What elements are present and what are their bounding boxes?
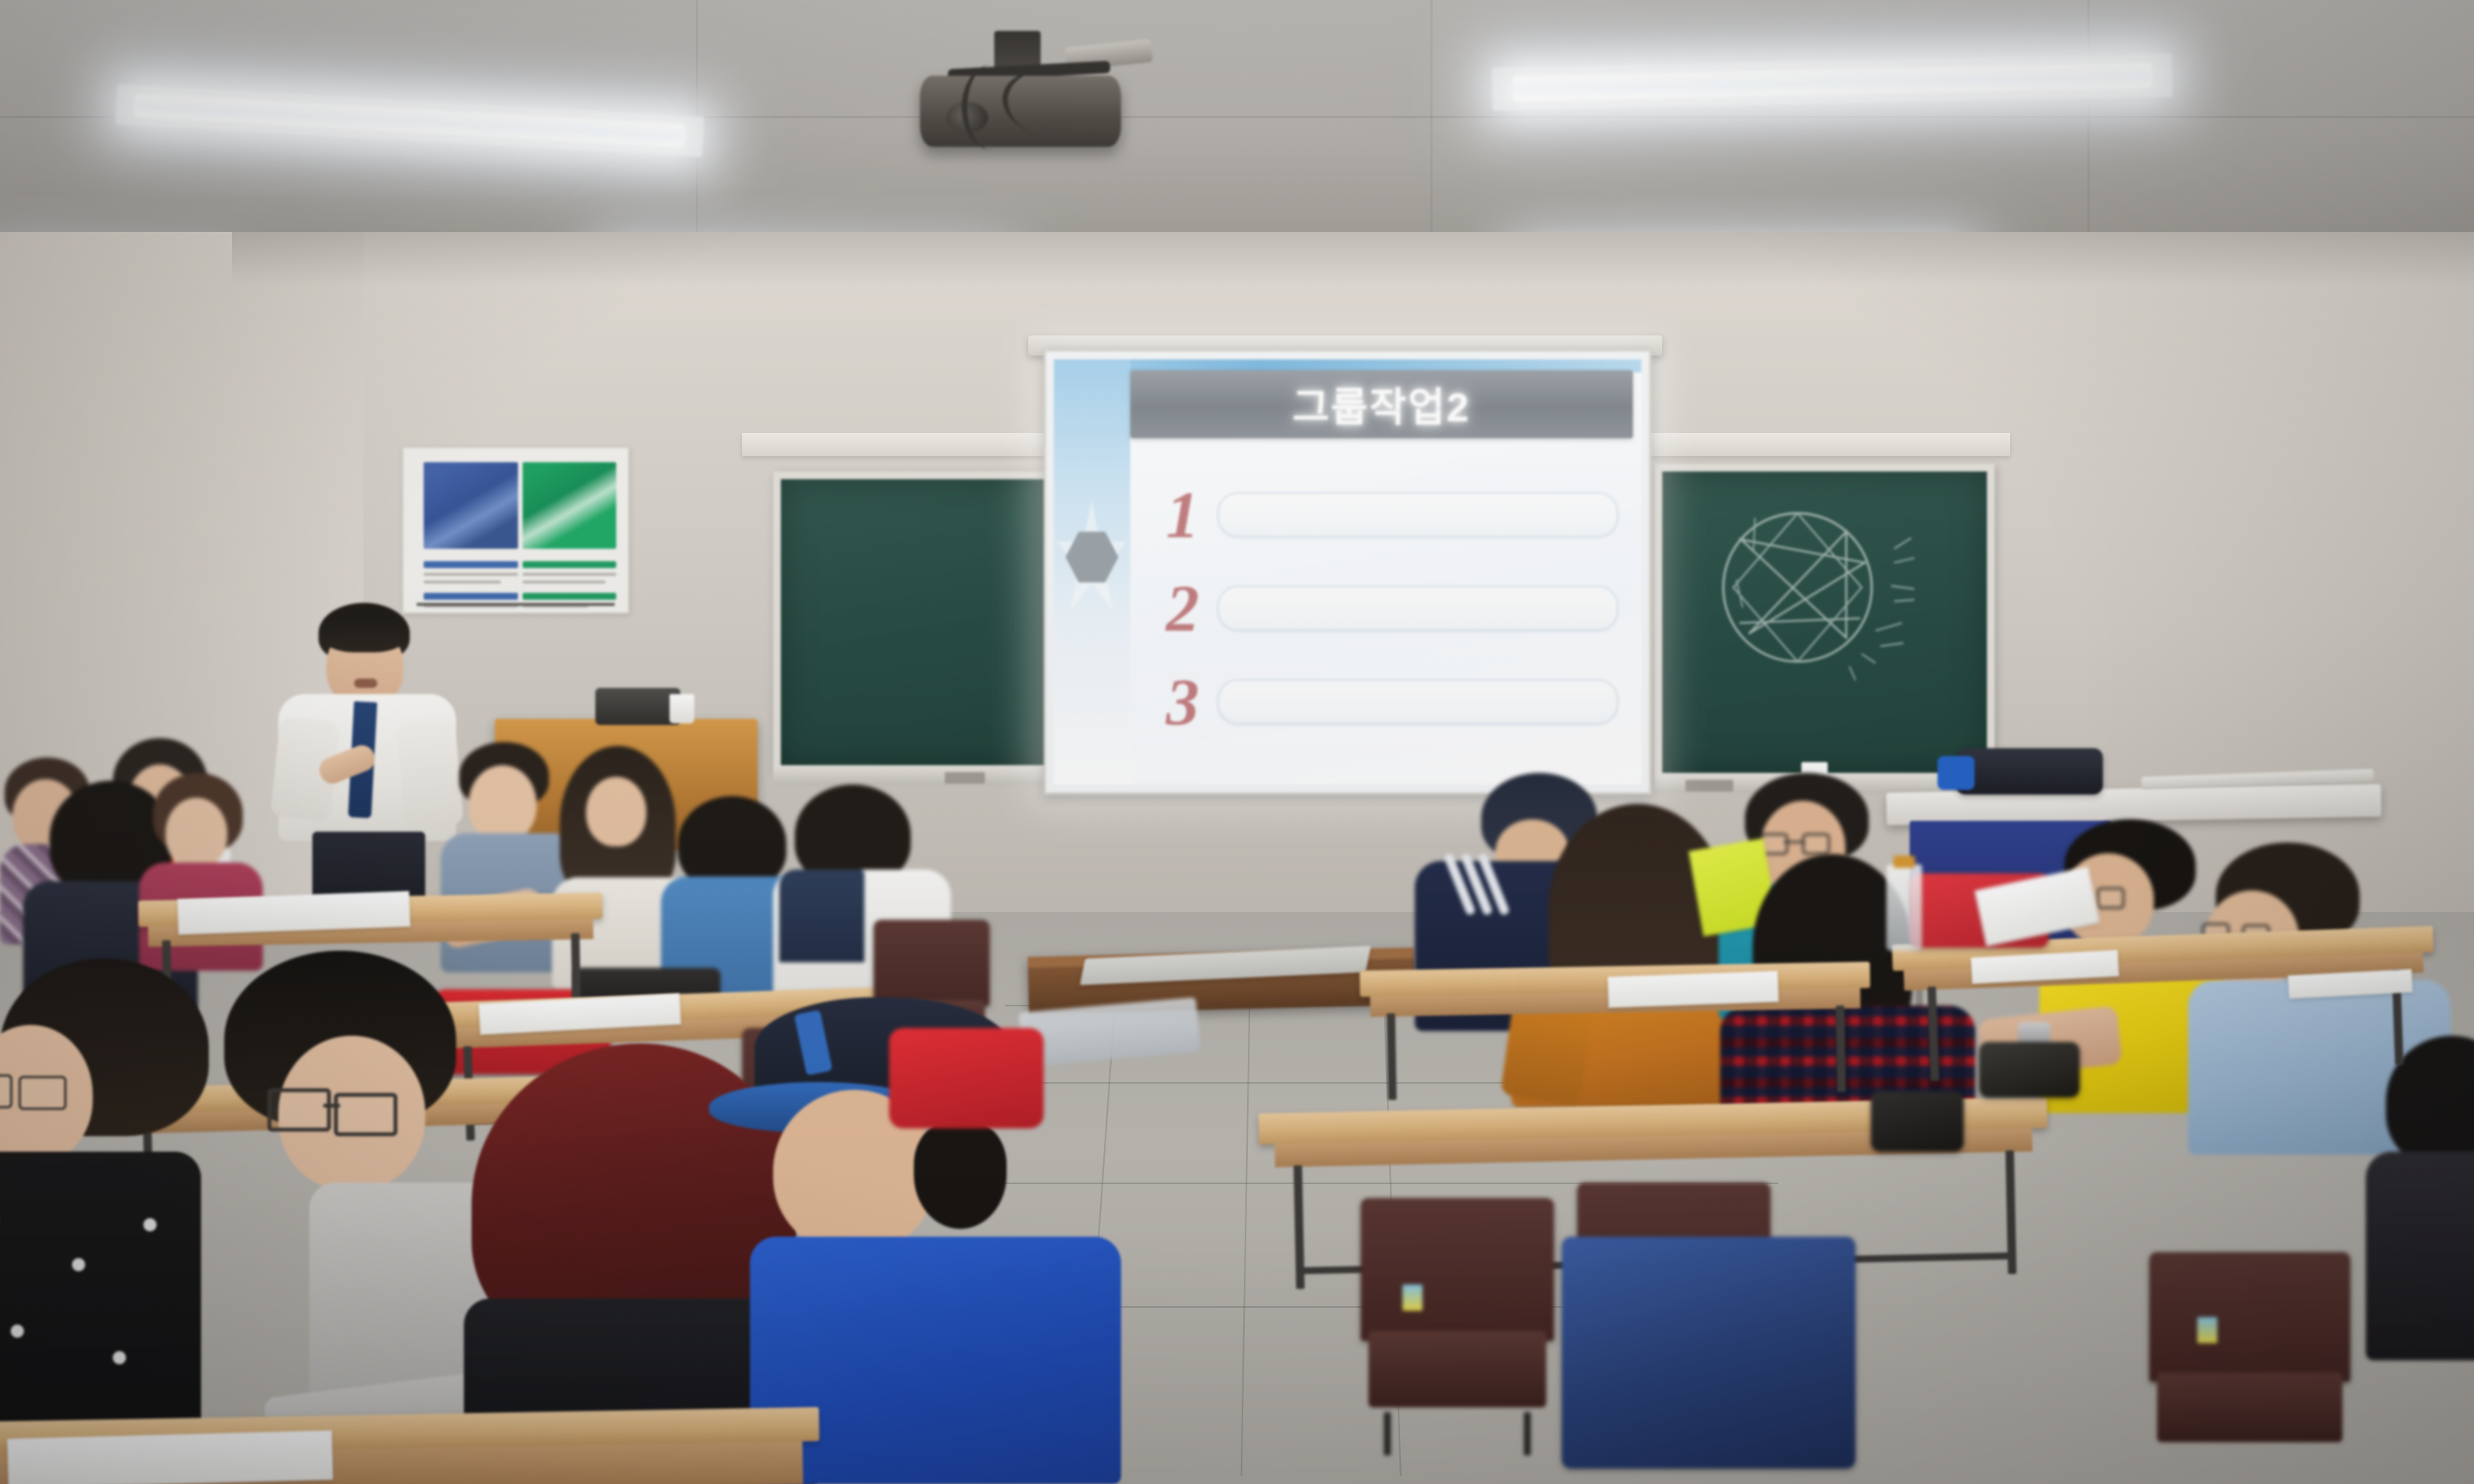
student-head [469, 765, 537, 842]
glasses-icon [334, 1093, 397, 1136]
student-hair [914, 1121, 1007, 1229]
glasses-icon [19, 1076, 66, 1110]
classroom-photograph: 그룹작업2 1 2 3 [0, 0, 2474, 1484]
paper-cup [670, 694, 694, 723]
slide-item-number: 3 [1148, 663, 1218, 740]
chair-asset-tag [1402, 1285, 1423, 1311]
slide-title-bar: 그룹작업2 [1130, 370, 1633, 438]
poster-heading-bar [523, 593, 617, 600]
glasses-icon [0, 1074, 12, 1108]
poster-heading-bar [424, 561, 518, 568]
instructor-hair-front [320, 611, 408, 652]
glasses-icon [268, 1088, 331, 1132]
poster-heading-bar [424, 593, 518, 600]
red-garment [889, 1028, 1044, 1128]
glasses-bridge [1784, 841, 1805, 843]
blue-backpack [1562, 1237, 1855, 1469]
desk-row-right-far [1892, 926, 2438, 1084]
chair-asset-tag [2197, 1317, 2217, 1343]
wall-poster-blue [402, 447, 629, 614]
slide-item-number: 2 [1148, 570, 1218, 647]
slide-title: 그룹작업2 [1293, 375, 1470, 433]
poster-image [523, 462, 617, 549]
poster-image [424, 462, 518, 549]
glasses-icon [2097, 887, 2125, 909]
camera-bag [1979, 1042, 2080, 1098]
chalkboard-right [1654, 464, 1995, 781]
chalk-tray [773, 765, 1059, 785]
instructor-mouth [354, 679, 377, 688]
camera-bag [1871, 1091, 1964, 1152]
student-head [586, 777, 646, 846]
bag-on-cart [1956, 748, 2103, 795]
chair [2149, 1252, 2350, 1484]
chalkboard-left [773, 471, 1059, 773]
student-head [165, 798, 227, 869]
slide-item: 2 [1148, 572, 1618, 645]
handout-foreground [7, 1431, 333, 1484]
enneagram-chalk-drawing [1662, 471, 1987, 773]
slide-item: 3 [1148, 665, 1618, 738]
slide-item: 1 [1148, 478, 1618, 551]
projection-screen: 그룹작업2 1 2 3 [1044, 349, 1651, 795]
equipment-on-podium [595, 688, 680, 725]
poster-heading-bar [523, 561, 617, 568]
wall-shading [232, 232, 2474, 286]
chalkboard-eraser [945, 772, 985, 784]
student-hood [779, 870, 864, 962]
presentation-slide: 그룹작업2 1 2 3 [1054, 359, 1641, 785]
student-dark-top [2366, 1152, 2474, 1360]
glasses-icon [1802, 833, 1830, 855]
chair [1361, 1198, 1554, 1453]
blue-item-on-cart [1937, 756, 1975, 790]
slide-item-number: 1 [1148, 476, 1218, 553]
water-bottle [1886, 864, 1922, 951]
paper-on-desk [1607, 971, 1778, 1008]
student-far-right-dark [2366, 1036, 2474, 1360]
bottle-cap [1893, 856, 1915, 868]
glasses-bridge [323, 1104, 340, 1108]
ceiling-projector [920, 31, 1136, 185]
